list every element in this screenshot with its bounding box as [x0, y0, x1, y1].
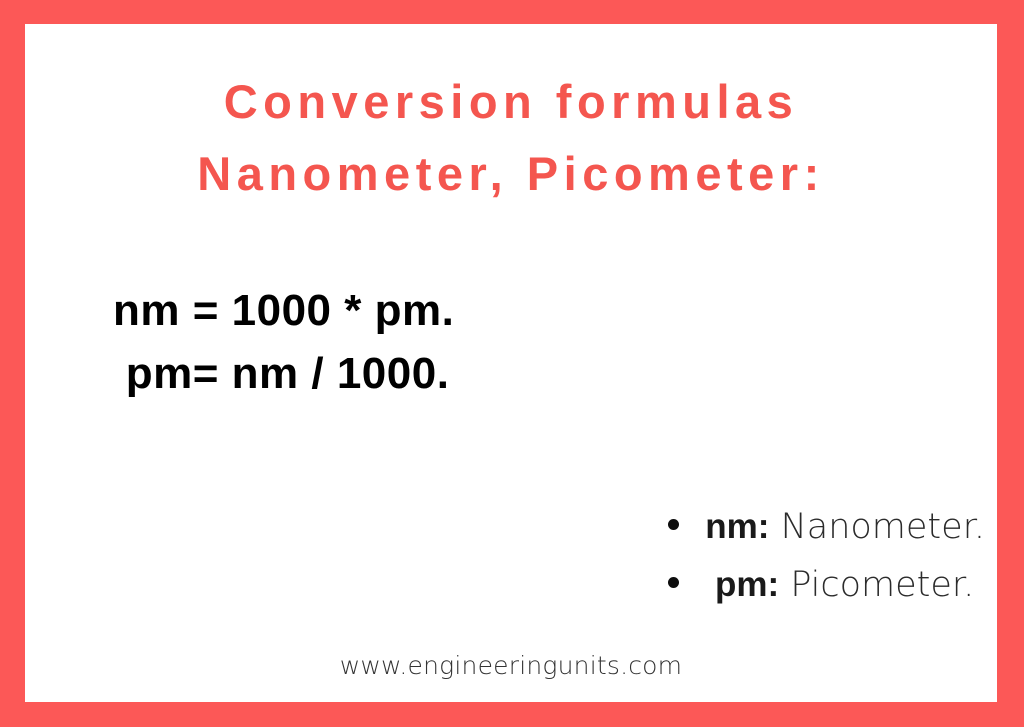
definition-term: pm: [705, 565, 779, 605]
poster-card: Conversion formulas Nanometer, Picometer… [0, 0, 1024, 727]
list-item: pm: Picometer. [668, 565, 985, 623]
title-line-1: Conversion formulas [25, 66, 997, 138]
formula-block: nm = 1000 * pm. pm= nm / 1000. [113, 279, 454, 405]
footer-url: www.engineeringunits.com [25, 651, 997, 680]
definition-list: nm: Nanometer. pm: Picometer. [668, 507, 985, 623]
bullet-icon [668, 519, 679, 530]
definition-description: Nanometer. [769, 507, 985, 547]
formula-pm-to-nm: pm= nm / 1000. [113, 342, 454, 405]
title-line-2: Nanometer, Picometer: [25, 138, 997, 210]
bullet-icon [668, 577, 679, 588]
white-panel: Conversion formulas Nanometer, Picometer… [25, 24, 997, 702]
page-title: Conversion formulas Nanometer, Picometer… [25, 66, 997, 210]
definition-description: Picometer. [779, 565, 974, 605]
formula-nm-to-pm: nm = 1000 * pm. [113, 279, 454, 342]
list-item: nm: Nanometer. [668, 507, 985, 565]
definition-term: nm: [705, 507, 769, 547]
